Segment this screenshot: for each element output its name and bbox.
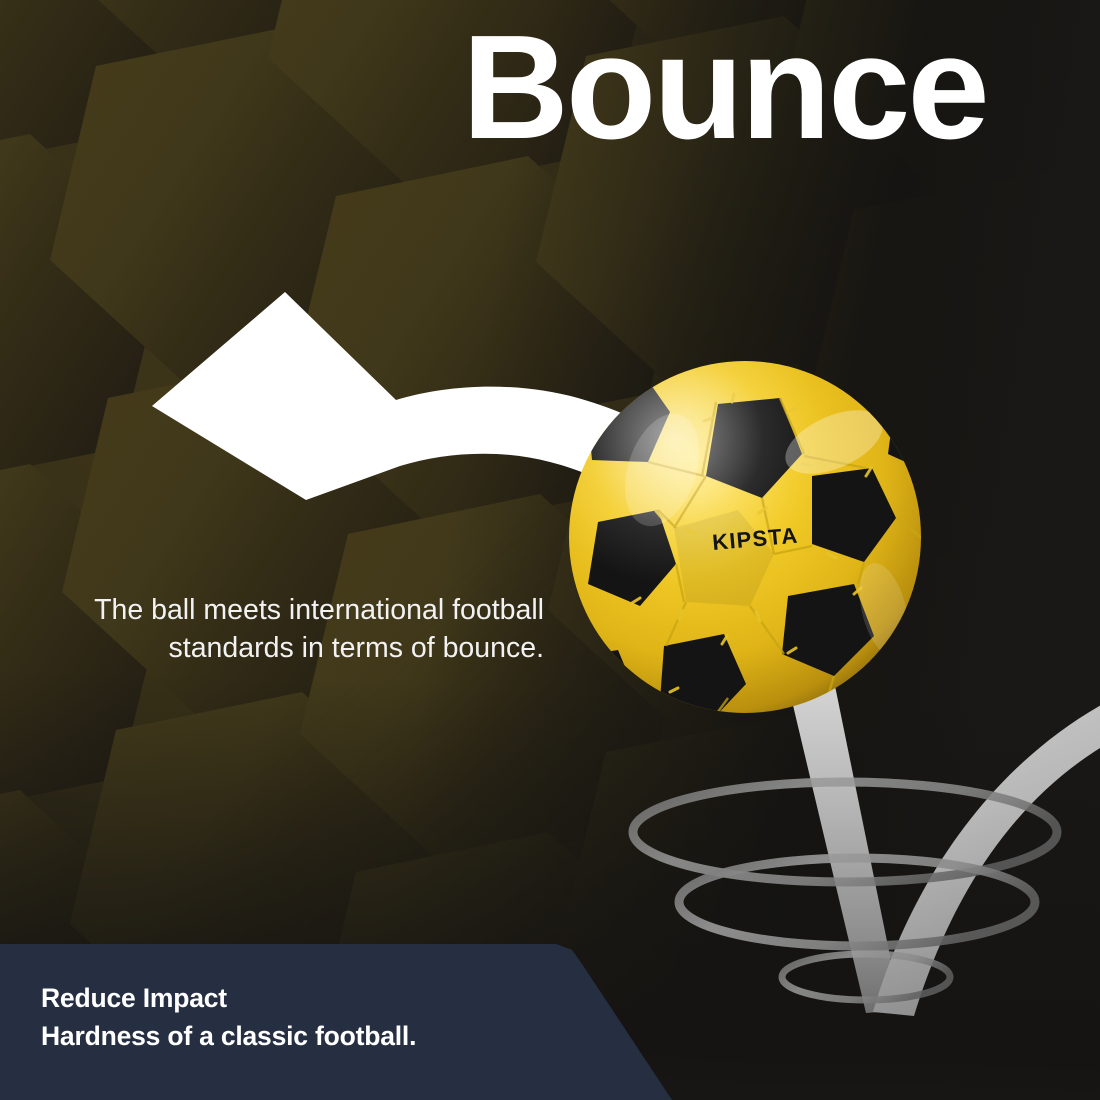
football-image: KIPSTA (566, 358, 924, 716)
description-line-1: The ball meets international football (18, 592, 544, 630)
banner-text-block: Reduce Impact Hardness of a classic foot… (41, 980, 416, 1055)
bottom-banner: Reduce Impact Hardness of a classic foot… (0, 944, 672, 1100)
description-line-2: standards in terms of bounce. (18, 630, 544, 668)
description-text: The ball meets international football st… (18, 592, 544, 668)
page-title: Bounce (462, 14, 1082, 162)
banner-line-1: Reduce Impact (41, 980, 416, 1018)
bounce-feature-graphic: KIPSTA Bounce The ball meets internation… (0, 0, 1100, 1100)
banner-line-2: Hardness of a classic football. (41, 1018, 416, 1056)
